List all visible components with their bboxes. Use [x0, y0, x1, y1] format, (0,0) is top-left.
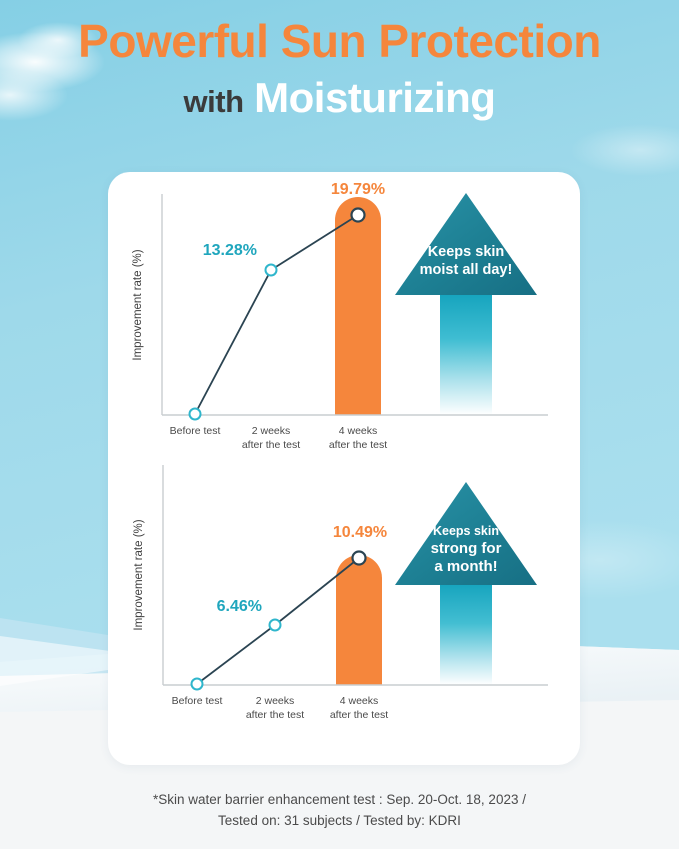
tick-label-4weeks-line2: after the test — [329, 439, 387, 451]
chart-moisture: Keeps skin moist all day! Improvement ra… — [108, 172, 580, 472]
page-title: Powerful Sun Protection — [0, 18, 679, 64]
bar-4-weeks — [336, 555, 382, 685]
value-label-2weeks: 6.46% — [217, 598, 262, 615]
tick-label-before-line1: Before test — [172, 695, 223, 707]
data-point-before — [192, 679, 203, 690]
data-point-before — [190, 409, 201, 420]
value-label-4weeks: 10.49% — [333, 524, 387, 541]
x-axis-tick-labels: Before test 2 weeks after the test 4 wee… — [172, 695, 389, 721]
page-subtitle: with Moisturizing — [0, 77, 679, 119]
y-axis-label: Improvement rate (%) — [133, 519, 145, 630]
bar-4-weeks — [335, 197, 381, 415]
callout-line-3: a month! — [434, 558, 497, 575]
callout-arrow-moisture: Keeps skin moist all day! — [395, 193, 537, 415]
value-label-2weeks: 13.28% — [203, 242, 257, 259]
callout-line-1: Keeps skin — [433, 524, 499, 538]
tick-label-4weeks-line1: 4 weeks — [339, 425, 378, 437]
arrow-shaft — [440, 582, 492, 685]
data-point-2weeks — [270, 620, 281, 631]
y-axis-label: Improvement rate (%) — [132, 249, 144, 360]
data-point-4weeks — [352, 209, 365, 222]
data-point-4weeks — [353, 552, 366, 565]
results-card: Keeps skin moist all day! Improvement ra… — [108, 172, 580, 765]
tick-label-4weeks-line2: after the test — [330, 709, 388, 721]
x-axis-tick-labels: Before test 2 weeks after the test 4 wee… — [170, 425, 388, 451]
tick-label-4weeks-line1: 4 weeks — [340, 695, 379, 707]
subtitle-highlight: Moisturizing — [254, 74, 495, 121]
chart-barrier: Keeps skin strong for a month! Improveme… — [108, 465, 580, 765]
callout-line-2: strong for — [431, 540, 502, 557]
callout-line-2: moist all day! — [420, 262, 513, 278]
tick-label-2weeks-line2: after the test — [246, 709, 304, 721]
footnote: *Skin water barrier enhancement test : S… — [0, 790, 679, 832]
tick-label-2weeks-line2: after the test — [242, 439, 300, 451]
value-label-4weeks: 19.79% — [331, 181, 385, 198]
tick-label-before-line1: Before test — [170, 425, 221, 437]
arrow-shaft — [440, 292, 492, 415]
tick-label-2weeks-line1: 2 weeks — [256, 695, 295, 707]
callout-arrow-barrier: Keeps skin strong for a month! — [395, 482, 537, 685]
footnote-line-1: *Skin water barrier enhancement test : S… — [0, 790, 679, 811]
tick-label-2weeks-line1: 2 weeks — [252, 425, 291, 437]
subtitle-prefix: with — [184, 84, 244, 119]
data-point-2weeks — [266, 265, 277, 276]
footnote-line-2: Tested on: 31 subjects / Tested by: KDRI — [0, 811, 679, 832]
page-header: Powerful Sun Protection with Moisturizin… — [0, 18, 679, 119]
callout-line-1: Keeps skin — [428, 244, 505, 260]
